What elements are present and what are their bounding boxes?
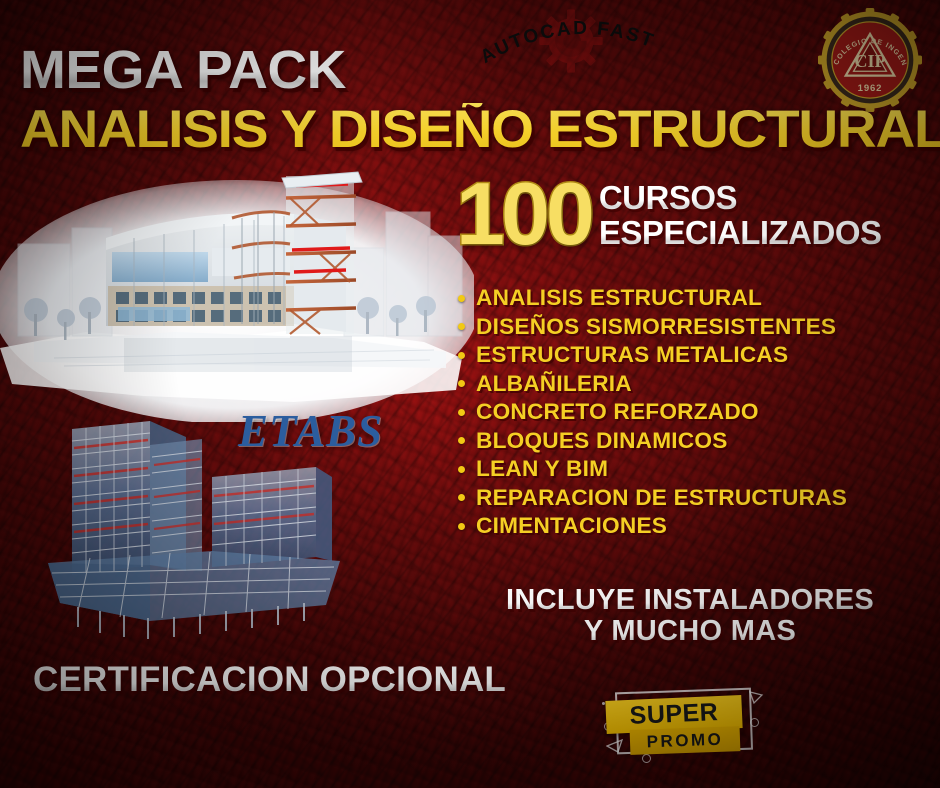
background-vignette <box>0 0 940 788</box>
promotional-poster: ETABS <box>0 0 940 788</box>
